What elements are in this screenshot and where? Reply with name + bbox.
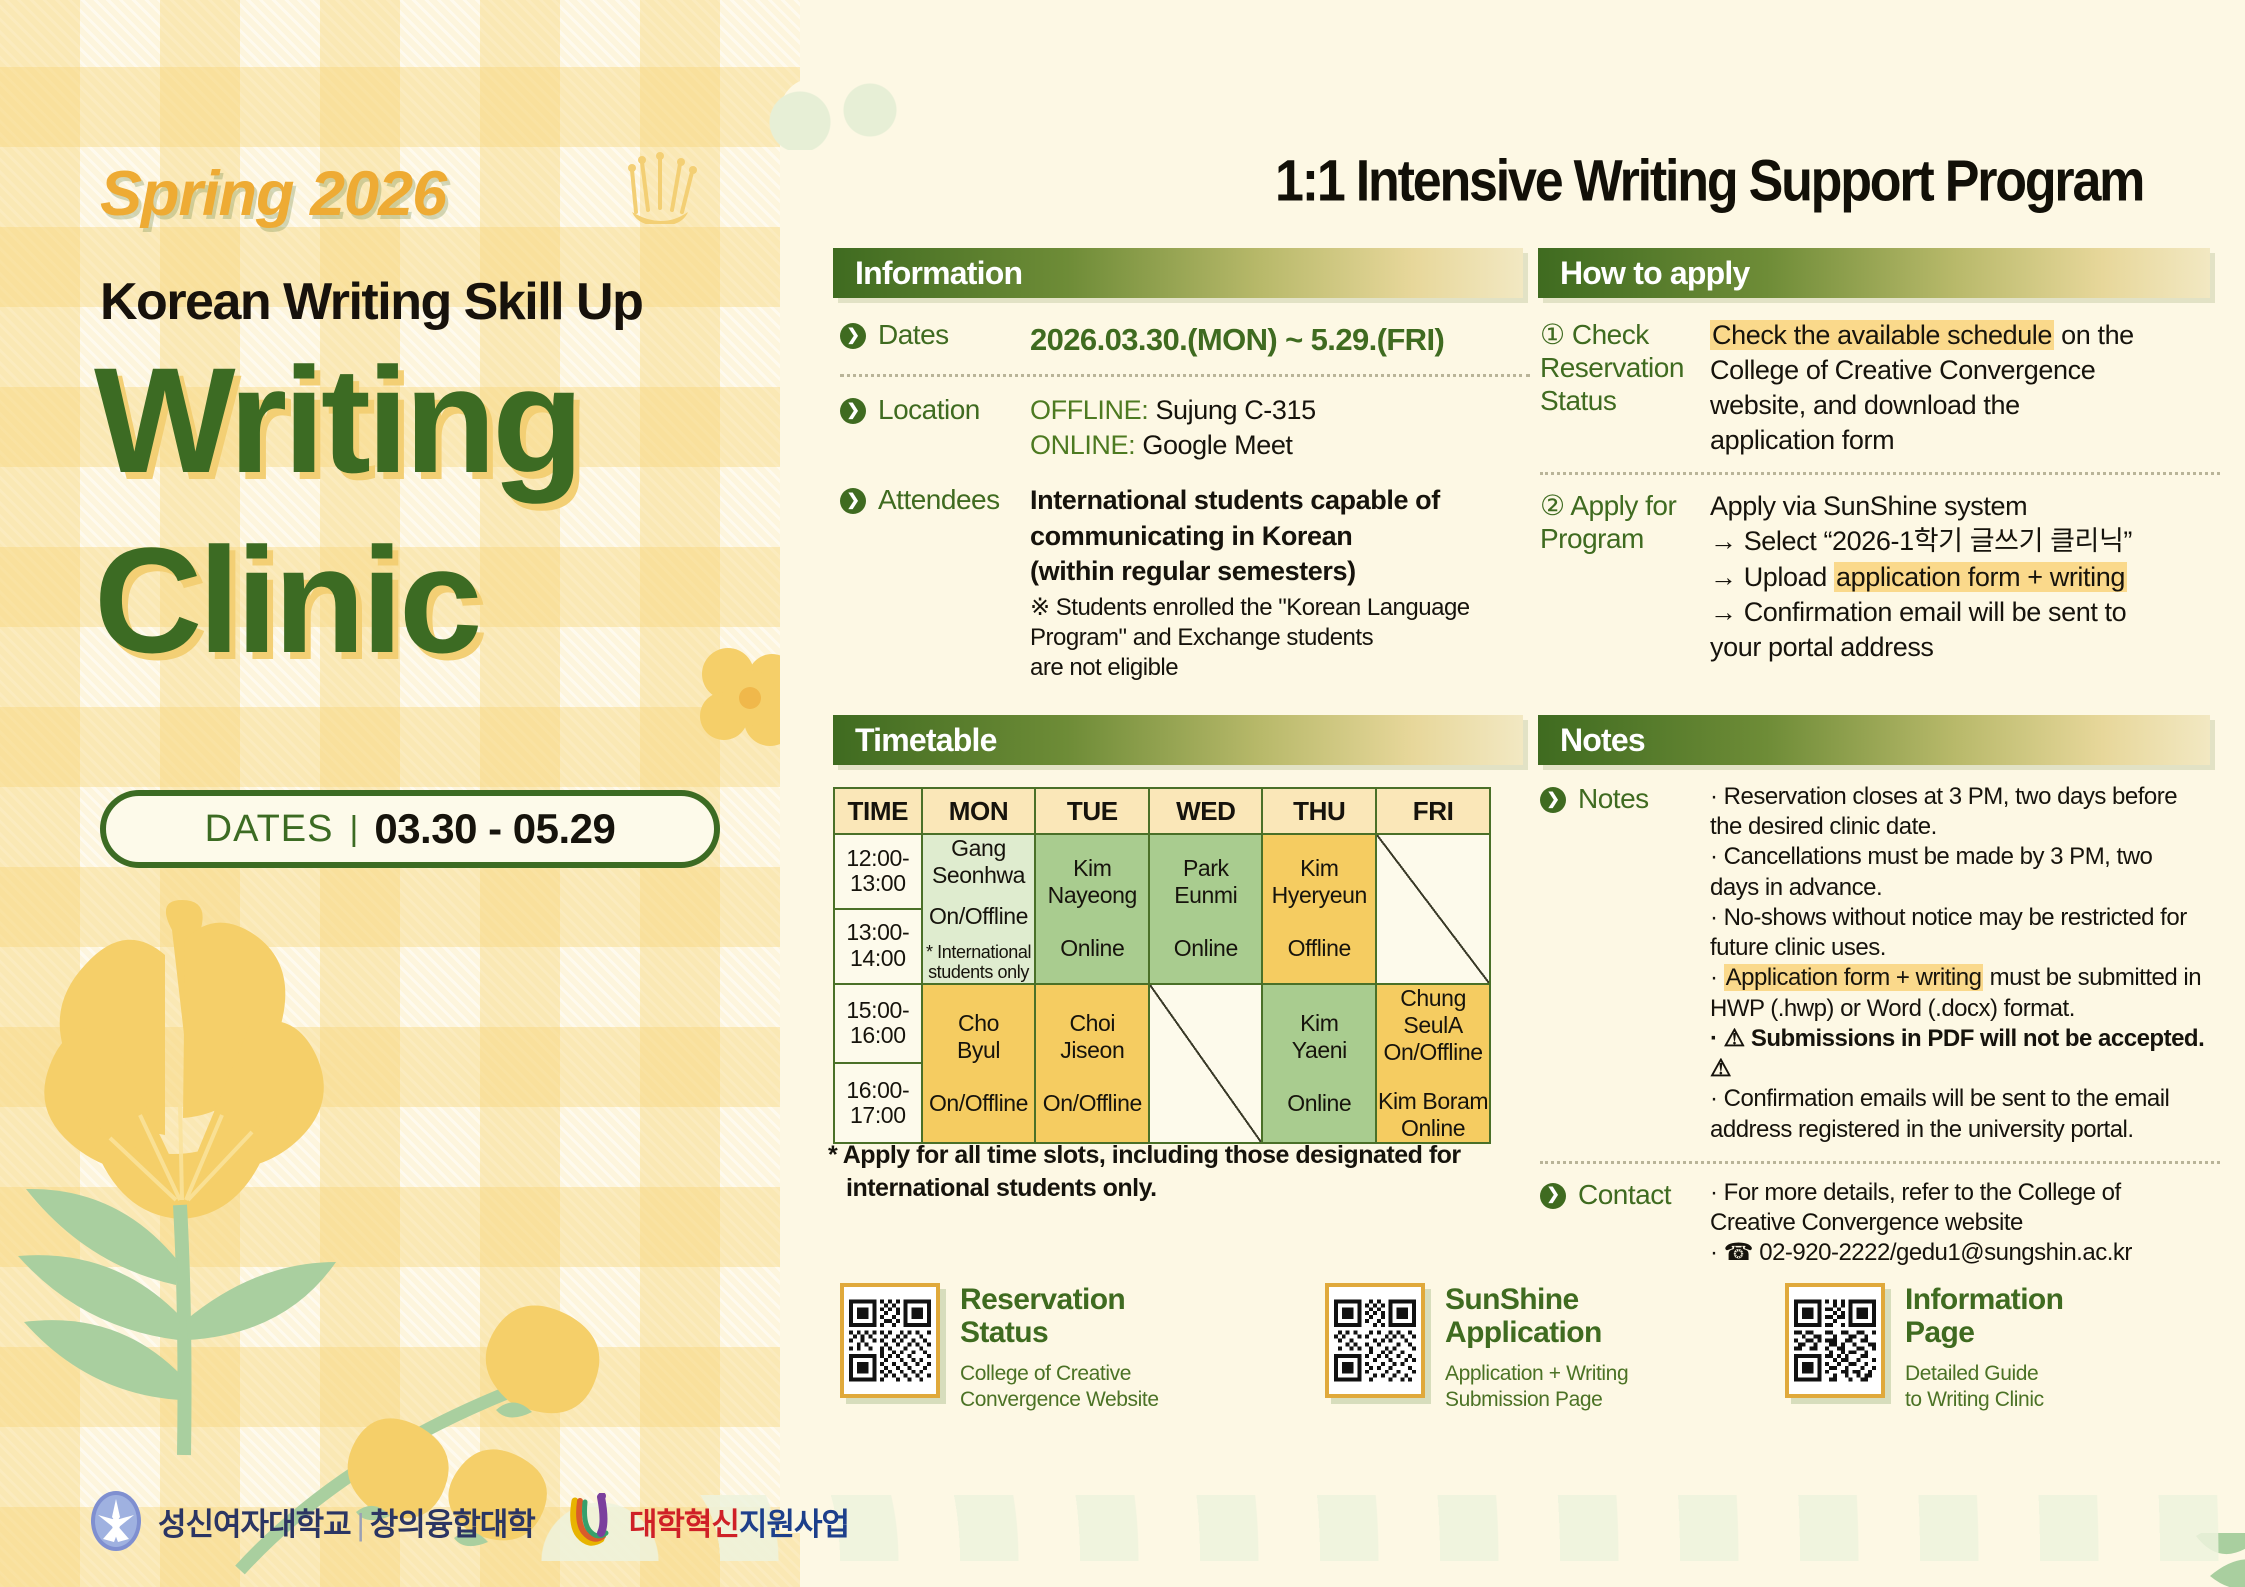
apply-step-1-value: Check the available schedule on the Coll…	[1710, 318, 2220, 458]
chevron-right-icon: ❯	[1540, 787, 1566, 813]
notes-section-header: Notes	[1538, 715, 2210, 765]
timetable-section-header: Timetable	[833, 715, 1523, 765]
timetable-time-4: 16:00- 17:00	[834, 1063, 922, 1143]
info-dates-text: 2026.03.30.(MON) ~ 5.29.(FRI)	[1030, 322, 1444, 357]
attendees-note-1: ※ Students enrolled the "Korean Language	[1030, 593, 1530, 623]
info-key-attendees-label: Attendees	[878, 483, 1000, 516]
timetable-cell-thu-block2: Kim Yaeni Online	[1262, 984, 1376, 1144]
apply-step-2-line3-pre: → Upload	[1710, 562, 1834, 592]
thu-b1-name1: Kim	[1263, 855, 1375, 882]
program-title: 1:1 Intensive Writing Support Program	[1275, 148, 2143, 215]
info-key-dates: ❯ Dates	[840, 318, 1030, 351]
tue-b2-name2: Jiseon	[1036, 1037, 1148, 1064]
timetable-heading-label: Timetable	[855, 722, 997, 759]
how-to-apply-heading-label: How to apply	[1560, 255, 1750, 292]
contact-key: ❯ Contact	[1540, 1178, 1710, 1211]
online-label: ONLINE:	[1030, 430, 1135, 460]
how-to-apply-section-header: How to apply	[1538, 248, 2210, 298]
notes-body: ❯ Notes · Reservation closes at 3 PM, tw…	[1540, 782, 2220, 1269]
attendees-note-3: are not eligible	[1030, 653, 1530, 683]
notes-item-4a: · Application form + writing must be sub…	[1710, 963, 2220, 993]
mon-b1-name2: Seonhwa	[923, 862, 1035, 889]
attendees-line-3: (within regular semesters)	[1030, 554, 1530, 589]
timetable-col-thu: THU	[1262, 788, 1376, 834]
notes-item-warning: · ⚠ Submissions in PDF will not be accep…	[1710, 1024, 2220, 1084]
table-row: 15:00- 16:00 Cho Byul On/Offline Choi Ji…	[834, 984, 1490, 1064]
notes-divider	[1540, 1161, 2220, 1164]
timetable-cell-mon-block1: Gang Seonhwa On/Offline * International …	[922, 834, 1036, 984]
info-spacer	[840, 463, 1530, 483]
timetable-time-1-line1: 12:00-	[835, 846, 921, 872]
timetable-table: TIME MON TUE WED THU FRI 12:00- 13:00 Ga…	[833, 787, 1491, 1144]
contact-line-2: Creative Convergence website	[1710, 1208, 2220, 1238]
qr-title-line1: SunShine	[1445, 1283, 1628, 1316]
timetable-cell-wed-block2-empty	[1149, 984, 1262, 1144]
qr-title-line1: Information	[1905, 1283, 2063, 1316]
fri-b2-name1: Chung SeulA	[1377, 985, 1489, 1039]
timetable-footnote-line2: international students only.	[846, 1172, 1461, 1205]
mon-b2-mode: On/Offline	[923, 1090, 1035, 1117]
qr-code-icon[interactable]	[1785, 1283, 1885, 1398]
qr-sub-line2: Convergence Website	[960, 1387, 1159, 1413]
contact-key-label: Contact	[1578, 1178, 1671, 1211]
apply-step-1-line1: Check the available schedule on the	[1710, 318, 2220, 353]
timetable-time-2-line2: 14:00	[835, 946, 921, 972]
notes-item-4-pre: ·	[1710, 964, 1724, 991]
online-value: Google Meet	[1142, 430, 1292, 460]
fri-b2-name2: On/Offline	[1377, 1039, 1489, 1066]
timetable-col-fri: FRI	[1376, 788, 1490, 834]
qr-code-graphic	[1794, 1292, 1876, 1389]
qr-code-icon[interactable]	[840, 1283, 940, 1398]
tue-b1-name1: Kim	[1036, 855, 1148, 882]
qr-title-line2: Status	[960, 1316, 1159, 1349]
timetable-time-2-line1: 13:00-	[835, 920, 921, 946]
fri-b2-name3: Kim Boram	[1377, 1088, 1489, 1115]
timetable-col-tue: TUE	[1035, 788, 1149, 834]
apply-step-1: ① Check Reservation Status Check the ava…	[1540, 318, 2220, 458]
dates-badge: DATES | 03.30 - 05.29	[100, 790, 720, 868]
notes-item-4-post: must be submitted in	[1983, 964, 2201, 991]
apply-step-1-line2: College of Creative Convergence	[1710, 353, 2220, 388]
information-section-header: Information	[833, 248, 1523, 298]
apply-step-2-key-line2: Program	[1540, 522, 1710, 555]
qr-code-graphic	[1334, 1292, 1416, 1389]
qr-item-information-page[interactable]: Information Page Detailed Guide to Writi…	[1785, 1283, 2063, 1414]
apply-step-1-key-line1: ① Check	[1540, 318, 1710, 351]
apply-step-2: ② Apply for Program Apply via SunShine s…	[1540, 489, 2220, 664]
apply-step-2-value: Apply via SunShine system → Select “2026…	[1710, 489, 2220, 664]
notes-key: ❯ Notes	[1540, 782, 1710, 815]
timetable-cell-fri-block1-empty	[1376, 834, 1490, 984]
chevron-right-icon: ❯	[1540, 1183, 1566, 1209]
mon-b2-name2: Byul	[923, 1037, 1035, 1064]
chevron-right-icon: ❯	[840, 488, 866, 514]
qr-text-block: SunShine Application Application + Writi…	[1445, 1283, 1628, 1414]
offline-label: OFFLINE:	[1030, 395, 1148, 425]
info-row-attendees: ❯ Attendees International students capab…	[840, 483, 1530, 683]
timetable-time-1: 12:00- 13:00	[834, 834, 922, 909]
tue-b2-mode: On/Offline	[1036, 1090, 1148, 1117]
chevron-right-icon: ❯	[840, 398, 866, 424]
apply-step-1-rest: on the	[2054, 320, 2134, 350]
tue-b1-name2: Nayeong	[1036, 882, 1148, 909]
notes-item-1a: · Reservation closes at 3 PM, two days b…	[1710, 782, 2220, 812]
dates-badge-label: DATES	[205, 808, 334, 851]
mon-b2-name1: Cho	[923, 1010, 1035, 1037]
timetable-time-4-line2: 17:00	[835, 1103, 921, 1129]
notes-item-3a: · No-shows without notice may be restric…	[1710, 903, 2220, 933]
apply-step-2-line4: → Confirmation email will be sent to	[1710, 595, 2220, 630]
page-title-line2: Clinic	[94, 530, 478, 671]
apply-step-2-key: ② Apply for Program	[1540, 489, 1710, 555]
footer-logos: 성신여자대학교|창의융합대학 대학혁신지원사업	[88, 1489, 849, 1553]
location-online-line: ONLINE: Google Meet	[1030, 428, 1316, 463]
table-row: 12:00- 13:00 Gang Seonhwa On/Offline * I…	[834, 834, 1490, 909]
thu-b1-name2: Hyeryeun	[1263, 882, 1375, 909]
timetable-cell-thu-block1: Kim Hyeryeun Offline	[1262, 834, 1376, 984]
wed-b1-mode: Online	[1150, 935, 1261, 962]
apply-step-2-line3: → Upload application form + writing	[1710, 560, 2220, 595]
timetable-time-3: 15:00- 16:00	[834, 984, 922, 1064]
thu-b2-name2: Yaeni	[1263, 1037, 1375, 1064]
information-body: ❯ Dates 2026.03.30.(MON) ~ 5.29.(FRI) ❯ …	[840, 318, 1530, 683]
location-offline-line: OFFLINE: Sujung C-315	[1030, 393, 1316, 428]
footer-divider: |	[357, 1507, 364, 1542]
sprout-doodle-icon	[626, 150, 698, 224]
timetable-footnote-line1: * Apply for all time slots, including th…	[828, 1139, 1461, 1172]
qr-code-icon[interactable]	[1325, 1283, 1425, 1398]
qr-sub-line1: Detailed Guide	[1905, 1361, 2063, 1387]
timetable-col-time: TIME	[834, 788, 922, 834]
qr-title-line2: Application	[1445, 1316, 1628, 1349]
attendees-note-2: Program" and Exchange students	[1030, 623, 1530, 653]
timetable-cell-mon-block2: Cho Byul On/Offline	[922, 984, 1036, 1144]
qr-text-block: Reservation Status College of Creative C…	[960, 1283, 1159, 1414]
qr-sub-line2: to Writing Clinic	[1905, 1387, 2063, 1413]
apply-step-2-line2: → Select “2026-1학기 글쓰기 클리닉”	[1710, 524, 2220, 559]
timetable-time-3-line1: 15:00-	[835, 998, 921, 1024]
apply-step-2-line3-highlight: application form + writing	[1834, 562, 2127, 592]
page-title-line1: Writing	[94, 350, 580, 491]
timetable-footnote: * Apply for all time slots, including th…	[828, 1139, 1461, 1204]
dates-badge-value: 03.30 - 05.29	[374, 802, 615, 857]
tue-b2-name1: Choi	[1036, 1010, 1148, 1037]
attendees-line-1: International students capable of	[1030, 483, 1530, 518]
college-name-text: 창의융합대학	[370, 1507, 535, 1542]
notes-items: · Reservation closes at 3 PM, two days b…	[1710, 782, 2220, 1145]
info-value-location: OFFLINE: Sujung C-315 ONLINE: Google Mee…	[1030, 393, 1316, 463]
timetable-col-mon: MON	[922, 788, 1036, 834]
offline-value: Sujung C-315	[1155, 395, 1315, 425]
program-red-text: 대학혁신	[629, 1507, 739, 1542]
timetable-cell-fri-block2: Chung SeulA On/Offline Kim Boram Online	[1376, 984, 1490, 1144]
qr-item-reservation-status[interactable]: Reservation Status College of Creative C…	[840, 1283, 1159, 1414]
contact-line-3: · ☎ 02-920-2222/gedu1@sungshin.ac.kr	[1710, 1238, 2220, 1268]
mon-b1-mode: On/Offline	[923, 903, 1035, 930]
apply-step-2-line5: your portal address	[1710, 630, 2220, 665]
timetable-cell-tue-block2: Choi Jiseon On/Offline	[1035, 984, 1149, 1144]
apply-step-2-line1: Apply via SunShine system	[1710, 489, 2220, 524]
apply-step-1-line3: website, and download the	[1710, 388, 2220, 423]
qr-title-line1: Reservation	[960, 1283, 1159, 1316]
thu-b2-name1: Kim	[1263, 1010, 1375, 1037]
university-name-text: 성신여자대학교	[158, 1507, 351, 1542]
apply-step-1-highlight: Check the available schedule	[1710, 320, 2054, 350]
notes-item-2a: · Cancellations must be made by 3 PM, tw…	[1710, 842, 2220, 872]
sungshin-emblem-icon	[88, 1489, 144, 1553]
qr-sub-line1: Application + Writing	[1445, 1361, 1628, 1387]
contact-row: ❯ Contact · For more details, refer to t…	[1540, 1178, 2220, 1269]
notes-item-6a: · Confirmation emails will be sent to th…	[1710, 1084, 2220, 1114]
notes-item-6b: address registered in the university por…	[1710, 1115, 2220, 1145]
thu-b2-mode: Online	[1263, 1090, 1375, 1117]
notes-item-3b: future clinic uses.	[1710, 933, 2220, 963]
contact-line-1: · For more details, refer to the College…	[1710, 1178, 2220, 1208]
qr-code-graphic	[849, 1292, 931, 1389]
apply-step-1-key-line2: Reservation	[1540, 351, 1710, 384]
timetable-cell-tue-block1: Kim Nayeong Online	[1035, 834, 1149, 984]
wed-b1-name2: Eunmi	[1150, 882, 1261, 909]
university-logo-group: 성신여자대학교|창의융합대학	[88, 1489, 535, 1553]
info-row-location: ❯ Location OFFLINE: Sujung C-315 ONLINE:…	[840, 393, 1530, 463]
qr-text-block: Information Page Detailed Guide to Writi…	[1905, 1283, 2063, 1414]
tue-b1-mode: Online	[1036, 935, 1148, 962]
info-value-attendees: International students capable of commun…	[1030, 483, 1530, 683]
apply-step-1-key-line3: Status	[1540, 384, 1710, 417]
notes-item-1b: the desired clinic date.	[1710, 812, 2220, 842]
notes-item-2b: days in advance.	[1710, 873, 2220, 903]
mon-b1-foot2: students only	[923, 962, 1035, 982]
qr-sub-line1: College of Creative	[960, 1361, 1159, 1387]
apply-step-2-key-line1: ② Apply for	[1540, 489, 1710, 522]
info-value-dates: 2026.03.30.(MON) ~ 5.29.(FRI)	[1030, 318, 1444, 360]
wed-b1-name1: Park	[1150, 855, 1261, 882]
apply-divider-1	[1540, 472, 2220, 475]
information-heading-label: Information	[855, 255, 1022, 292]
how-to-apply-body: ① Check Reservation Status Check the ava…	[1540, 318, 2220, 665]
innovation-program-logo-group: 대학혁신지원사업	[569, 1493, 849, 1549]
ui-swirl-logo-icon	[569, 1493, 615, 1549]
program-blue-text: 지원사업	[739, 1507, 849, 1542]
apply-step-1-key: ① Check Reservation Status	[1540, 318, 1710, 417]
info-key-attendees: ❯ Attendees	[840, 483, 1030, 516]
qr-item-sunshine-application[interactable]: SunShine Application Application + Writi…	[1325, 1283, 1628, 1414]
attendees-line-2: communicating in Korean	[1030, 519, 1530, 554]
timetable-col-wed: WED	[1149, 788, 1262, 834]
subtitle: Korean Writing Skill Up	[100, 272, 642, 332]
innovation-program-label: 대학혁신지원사업	[629, 1499, 849, 1544]
apply-step-1-line4: application form	[1710, 423, 2220, 458]
info-key-dates-label: Dates	[878, 318, 949, 351]
qr-title-line2: Page	[1905, 1316, 2063, 1349]
info-key-location: ❯ Location	[840, 393, 1030, 426]
mon-b1-name1: Gang	[923, 835, 1035, 862]
notes-item-4b: HWP (.hwp) or Word (.docx) format.	[1710, 994, 2220, 1024]
timetable-header-row: TIME MON TUE WED THU FRI	[834, 788, 1490, 834]
thu-b1-mode: Offline	[1263, 935, 1375, 962]
mon-b1-foot1: * International	[923, 942, 1035, 962]
notes-key-label: Notes	[1578, 782, 1649, 815]
timetable-time-1-line2: 13:00	[835, 871, 921, 897]
qr-sub-line2: Submission Page	[1445, 1387, 1628, 1413]
info-row-dates: ❯ Dates 2026.03.30.(MON) ~ 5.29.(FRI)	[840, 318, 1530, 360]
chevron-right-icon: ❯	[840, 323, 866, 349]
eyebrow-title: Spring 2026	[100, 158, 446, 230]
timetable-cell-wed-block1: Park Eunmi Online	[1149, 834, 1262, 984]
poster-root: Spring 2026 Korean Writing Skill Up Writ…	[0, 0, 2245, 1587]
info-key-location-label: Location	[878, 393, 980, 426]
timetable-time-2: 13:00- 14:00	[834, 909, 922, 984]
timetable-time-4-line1: 16:00-	[835, 1078, 921, 1104]
info-divider-1	[840, 374, 1530, 377]
notes-row: ❯ Notes · Reservation closes at 3 PM, tw…	[1540, 782, 2220, 1145]
notes-heading-label: Notes	[1560, 722, 1645, 759]
university-name-label: 성신여자대학교|창의융합대학	[158, 1499, 535, 1544]
contact-value: · For more details, refer to the College…	[1710, 1178, 2220, 1269]
timetable-time-3-line2: 16:00	[835, 1023, 921, 1049]
notes-item-4-highlight: Application form + writing	[1724, 964, 1984, 991]
dates-badge-separator: |	[350, 810, 359, 849]
